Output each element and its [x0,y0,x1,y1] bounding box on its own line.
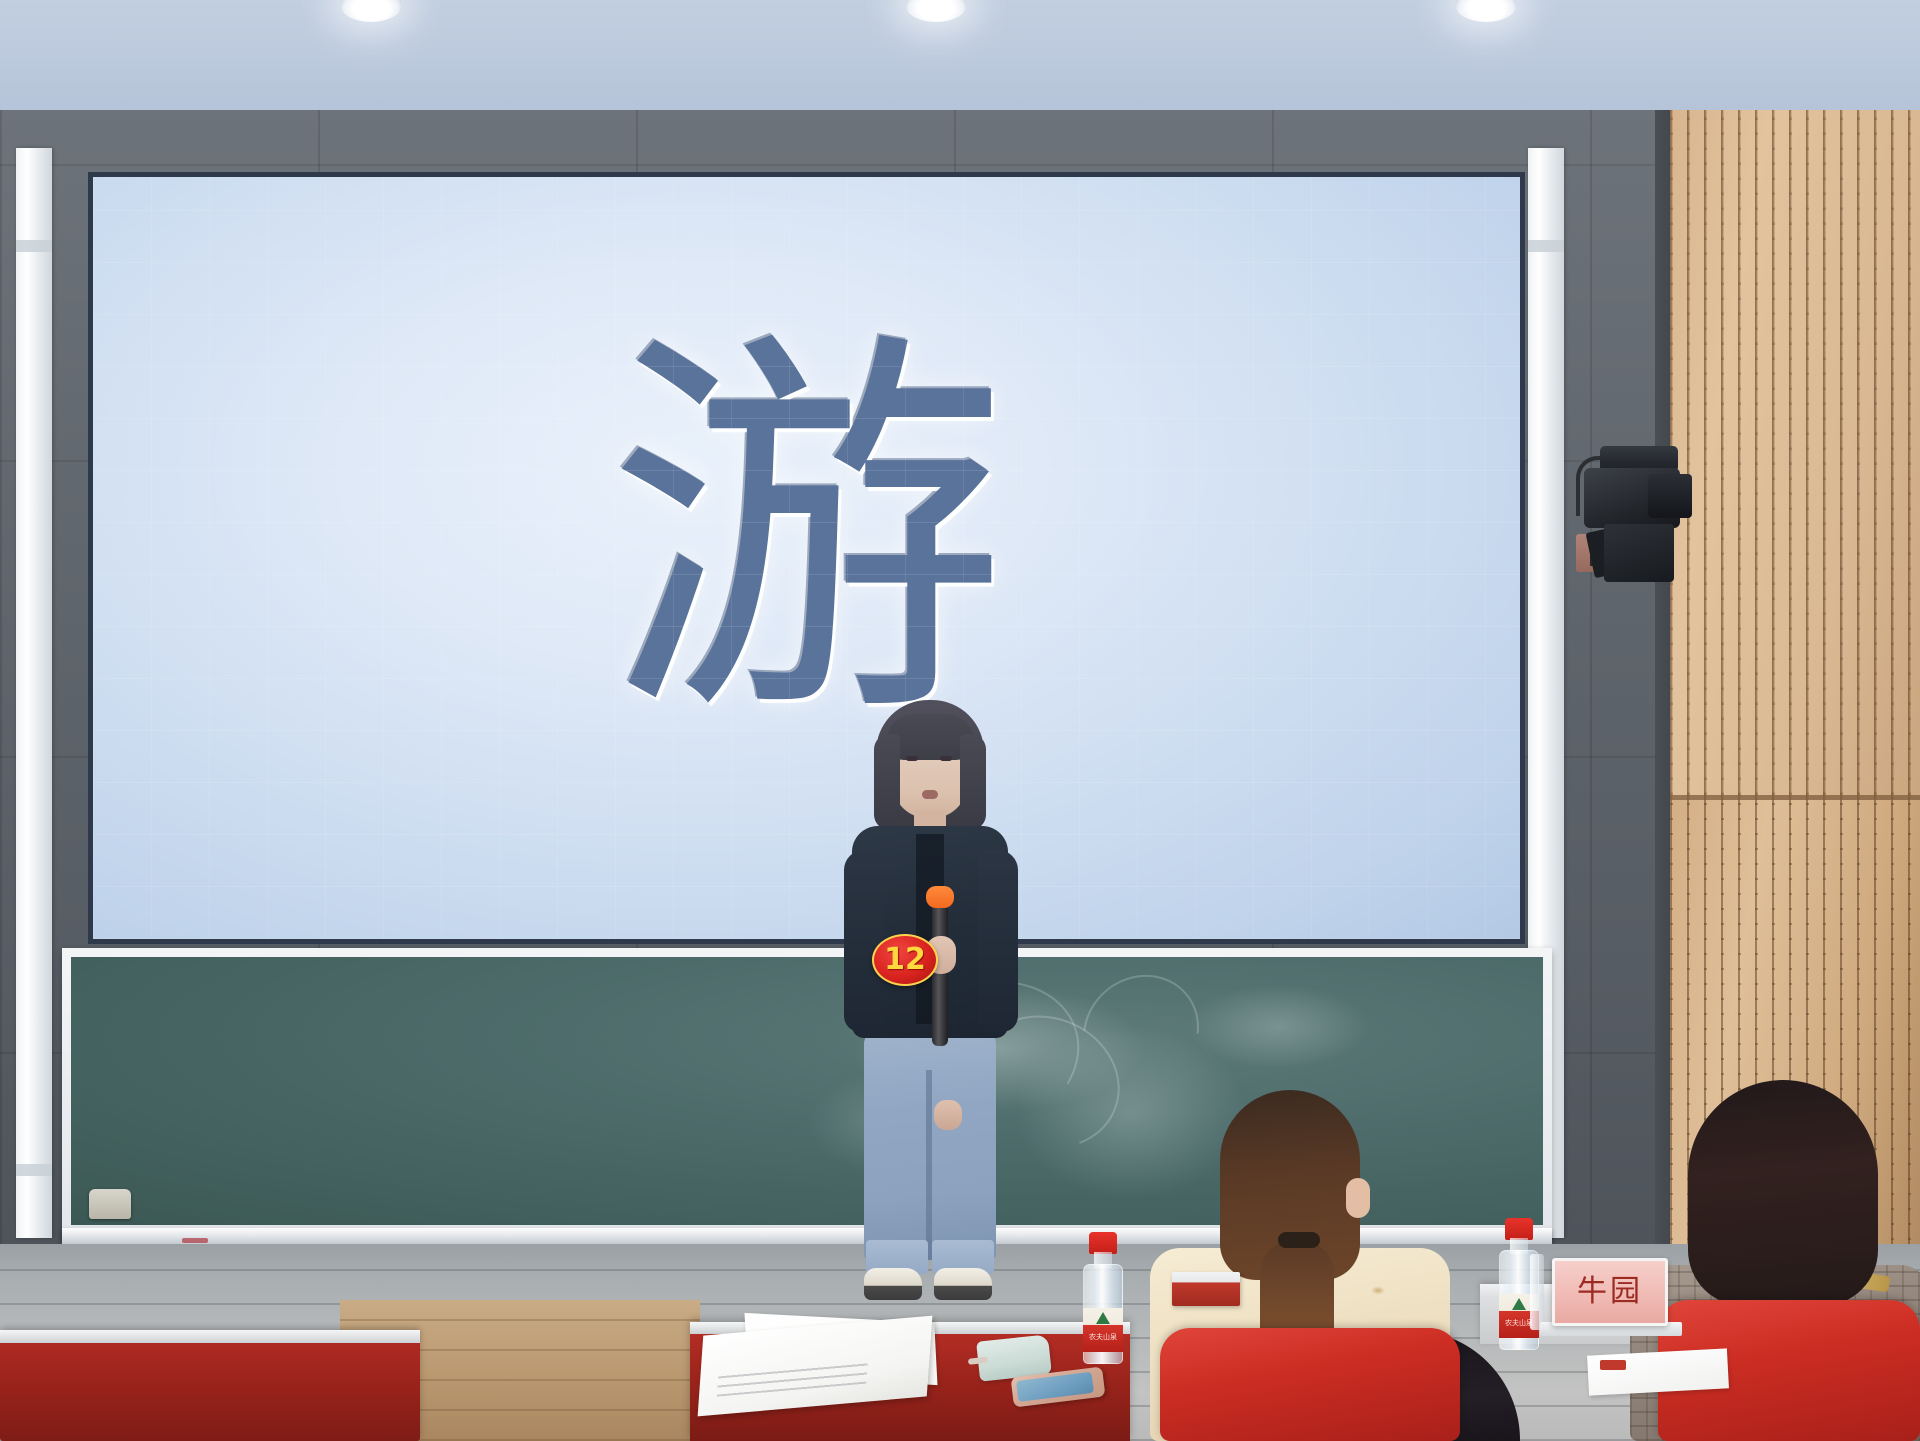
ceiling [0,0,1920,118]
presenter-arm-left [844,850,884,1032]
bottle-label: 农夫山泉 [1083,1308,1123,1352]
bottle-cap [1505,1218,1533,1240]
front-table-left [0,1330,420,1441]
presenter-eye-right [940,756,952,761]
name-placard: 牛园 [1552,1258,1668,1326]
presenter-hair-right [960,734,986,830]
chalkboard-eraser [89,1189,131,1219]
name-placard-text: 牛园 [1577,1277,1643,1307]
bottle-logo-icon [1096,1312,1110,1324]
contestant-number-text: 12 [884,945,926,975]
bottle-logo-icon [1512,1298,1526,1310]
judge-hair-tie [1278,1232,1320,1248]
judge-ear [1346,1178,1370,1218]
presenter-eye-left [906,756,918,761]
projection-screen: 游 [93,177,1520,939]
classroom-stage-scene: 游 [0,0,1920,1441]
microphone-windscreen-icon [926,886,954,908]
projection-screen-frame: 游 [88,172,1525,944]
presenter-shoe-right [934,1268,992,1300]
contestant-number-badge: 12 [872,934,938,986]
camera-mount-bracket [1604,524,1674,582]
bottle-label-text: 农夫山泉 [1083,1334,1123,1341]
projected-character: 游 [607,334,1007,734]
presenter-shoe-left [864,1268,922,1300]
chair [1160,1328,1460,1441]
presenter: 12 [830,700,1030,1320]
water-bottle: 农夫山泉 [1082,1232,1124,1364]
placard-stand [1530,1254,1544,1330]
score-sheet [1587,1348,1729,1395]
chalk-piece [182,1238,208,1243]
camera-lens-hood [1648,474,1692,518]
paper-clip [1600,1360,1626,1370]
presenter-hand-lower [934,1100,962,1130]
presenter-hair-left [874,734,900,830]
notebook [1172,1272,1240,1306]
table-glass-top [0,1330,420,1343]
presenter-jeans [864,1030,996,1260]
judge-hair [1688,1080,1878,1306]
board-rail-left [16,148,52,1238]
bottle-cap [1089,1232,1117,1254]
presenter-arm-right [978,850,1018,1032]
presenter-mouth [922,790,938,799]
wall-camera [1570,430,1710,590]
